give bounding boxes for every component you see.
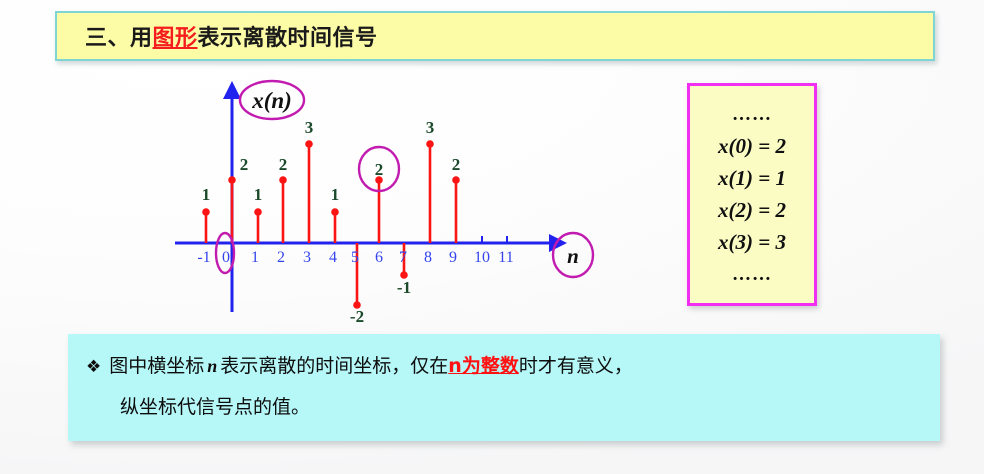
title-suffix: 表示离散时间信号 [198, 26, 378, 51]
note-line-1: ❖图中横坐标n表示离散的时间坐标，仅在n为整数时才有意义， [86, 346, 920, 387]
page-title: 三、用图形表示离散时间信号 [57, 20, 378, 52]
note-highlight: n为整数 [448, 355, 519, 377]
value-x3: x(3) = 3 [718, 232, 786, 253]
value-dots-bottom: …… [732, 265, 772, 284]
note-box: ❖图中横坐标n表示离散的时间坐标，仅在n为整数时才有意义， 纵坐标代信号点的值。 [68, 334, 940, 441]
title-highlight: 图形 [153, 26, 198, 51]
bullet-icon: ❖ [86, 357, 101, 377]
title-banner: 三、用图形表示离散时间信号 [55, 11, 935, 61]
value-x0: x(0) = 2 [718, 136, 786, 157]
note-text-part2: 表示离散的时间坐标，仅在 [220, 355, 448, 377]
note-italic-n: n [204, 356, 220, 376]
value-dots-top: …… [732, 105, 772, 124]
value-x1: x(1) = 1 [718, 168, 786, 189]
value-x2: x(2) = 2 [718, 200, 786, 221]
note-text-part1: 图中横坐标 [109, 355, 204, 377]
note-text-part3: 时才有意义， [519, 355, 633, 377]
value-list-box: …… x(0) = 2 x(1) = 1 x(2) = 2 x(3) = 3 …… [687, 83, 817, 306]
note-line-2: 纵坐标代信号点的值。 [86, 387, 920, 427]
title-prefix: 三、用 [85, 26, 153, 51]
